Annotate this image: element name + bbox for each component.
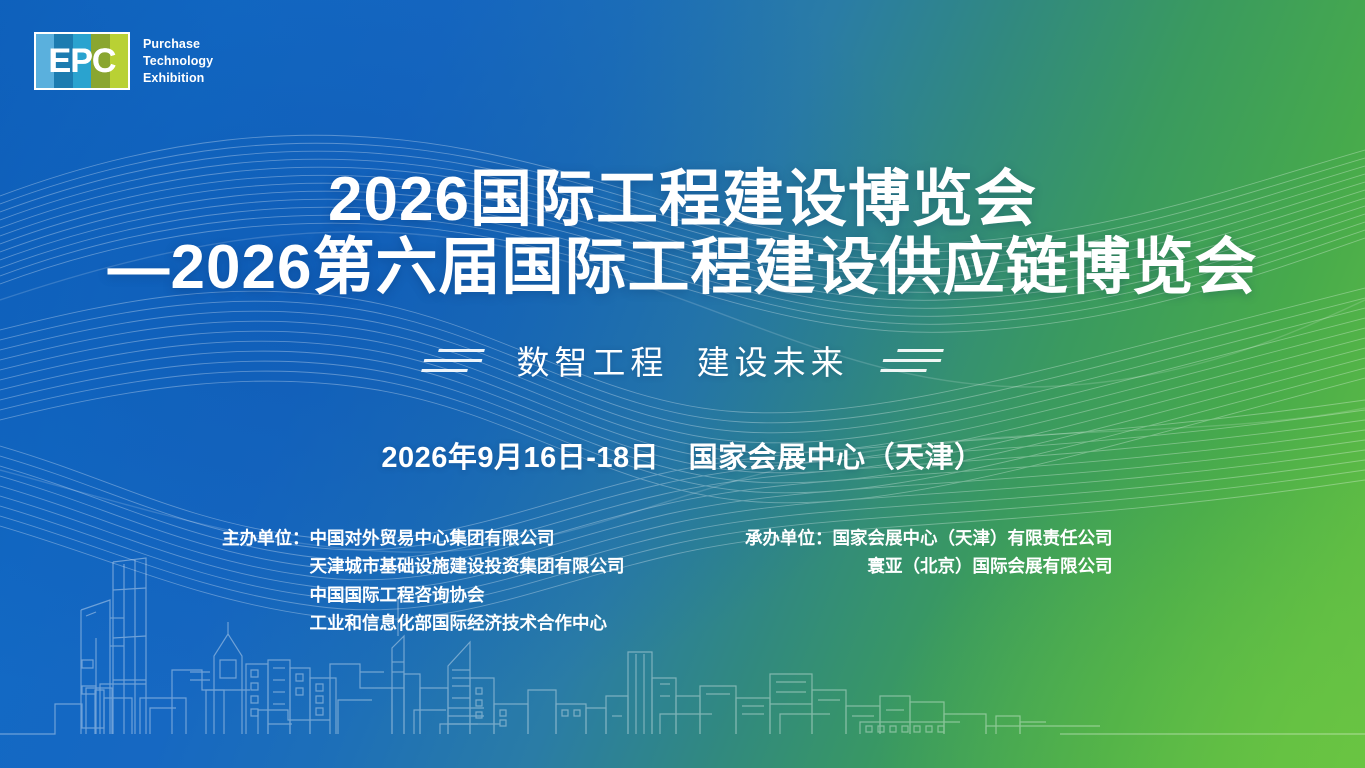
tagline-row: 数智工程 建设未来 — [0, 336, 1365, 384]
host-organizer-block: 主办单位： 中国对外贸易中心集团有限公司 天津城市基础设施建设投资集团有限公司 … — [222, 524, 625, 637]
cohost-organizer-block: 承办单位： 国家会展中心（天津）有限责任公司 寰亚（北京）国际会展有限公司 — [745, 524, 1113, 581]
event-banner: EPC Purchase Technology Exhibition 2026国… — [0, 0, 1365, 768]
date-venue-line: 2026年9月16日-18日 国家会展中心（天津） — [0, 434, 1365, 476]
host-organizer-label: 主办单位： — [222, 524, 310, 637]
banner-headline: 2026国际工程建设博览会 —2026第六届国际工程建设供应链博览会 — [0, 168, 1365, 304]
host-organizer-row: 主办单位： 中国对外贸易中心集团有限公司 天津城市基础设施建设投资集团有限公司 … — [222, 524, 625, 637]
cohost-organizer-item: 寰亚（北京）国际会展有限公司 — [833, 552, 1113, 580]
cohost-organizer-row: 承办单位： 国家会展中心（天津）有限责任公司 寰亚（北京）国际会展有限公司 — [745, 524, 1113, 581]
host-organizer-item: 中国国际工程咨询协会 — [310, 581, 625, 609]
tagline-text: 数智工程 建设未来 — [516, 336, 848, 384]
logo-text-line-1: Purchase — [143, 36, 213, 53]
host-organizer-item: 天津城市基础设施建设投资集团有限公司 — [310, 552, 625, 580]
epc-logo: EPC Purchase Technology Exhibition — [34, 32, 213, 90]
tagline-left-dash-icon — [421, 349, 485, 372]
logo-text-line-3: Exhibition — [143, 70, 213, 87]
host-organizer-item: 中国对外贸易中心集团有限公司 — [310, 524, 625, 552]
host-organizer-list: 中国对外贸易中心集团有限公司 天津城市基础设施建设投资集团有限公司 中国国际工程… — [310, 524, 625, 637]
cohost-organizer-list: 国家会展中心（天津）有限责任公司 寰亚（北京）国际会展有限公司 — [833, 524, 1113, 581]
epc-logo-mark: EPC — [34, 32, 130, 90]
epc-logo-wordmark: Purchase Technology Exhibition — [143, 36, 213, 87]
cohost-organizer-item: 国家会展中心（天津）有限责任公司 — [833, 524, 1113, 552]
host-organizer-item: 工业和信息化部国际经济技术合作中心 — [310, 609, 625, 637]
headline-line-1: 2026国际工程建设博览会 — [0, 168, 1365, 232]
background-green-tint — [0, 0, 1365, 768]
tagline-right-dash-icon — [880, 349, 944, 372]
logo-letters: EPC — [36, 34, 128, 88]
cohost-organizer-label: 承办单位： — [745, 524, 833, 581]
logo-text-line-2: Technology — [143, 53, 213, 70]
headline-line-2: —2026第六届国际工程建设供应链博览会 — [0, 232, 1365, 304]
